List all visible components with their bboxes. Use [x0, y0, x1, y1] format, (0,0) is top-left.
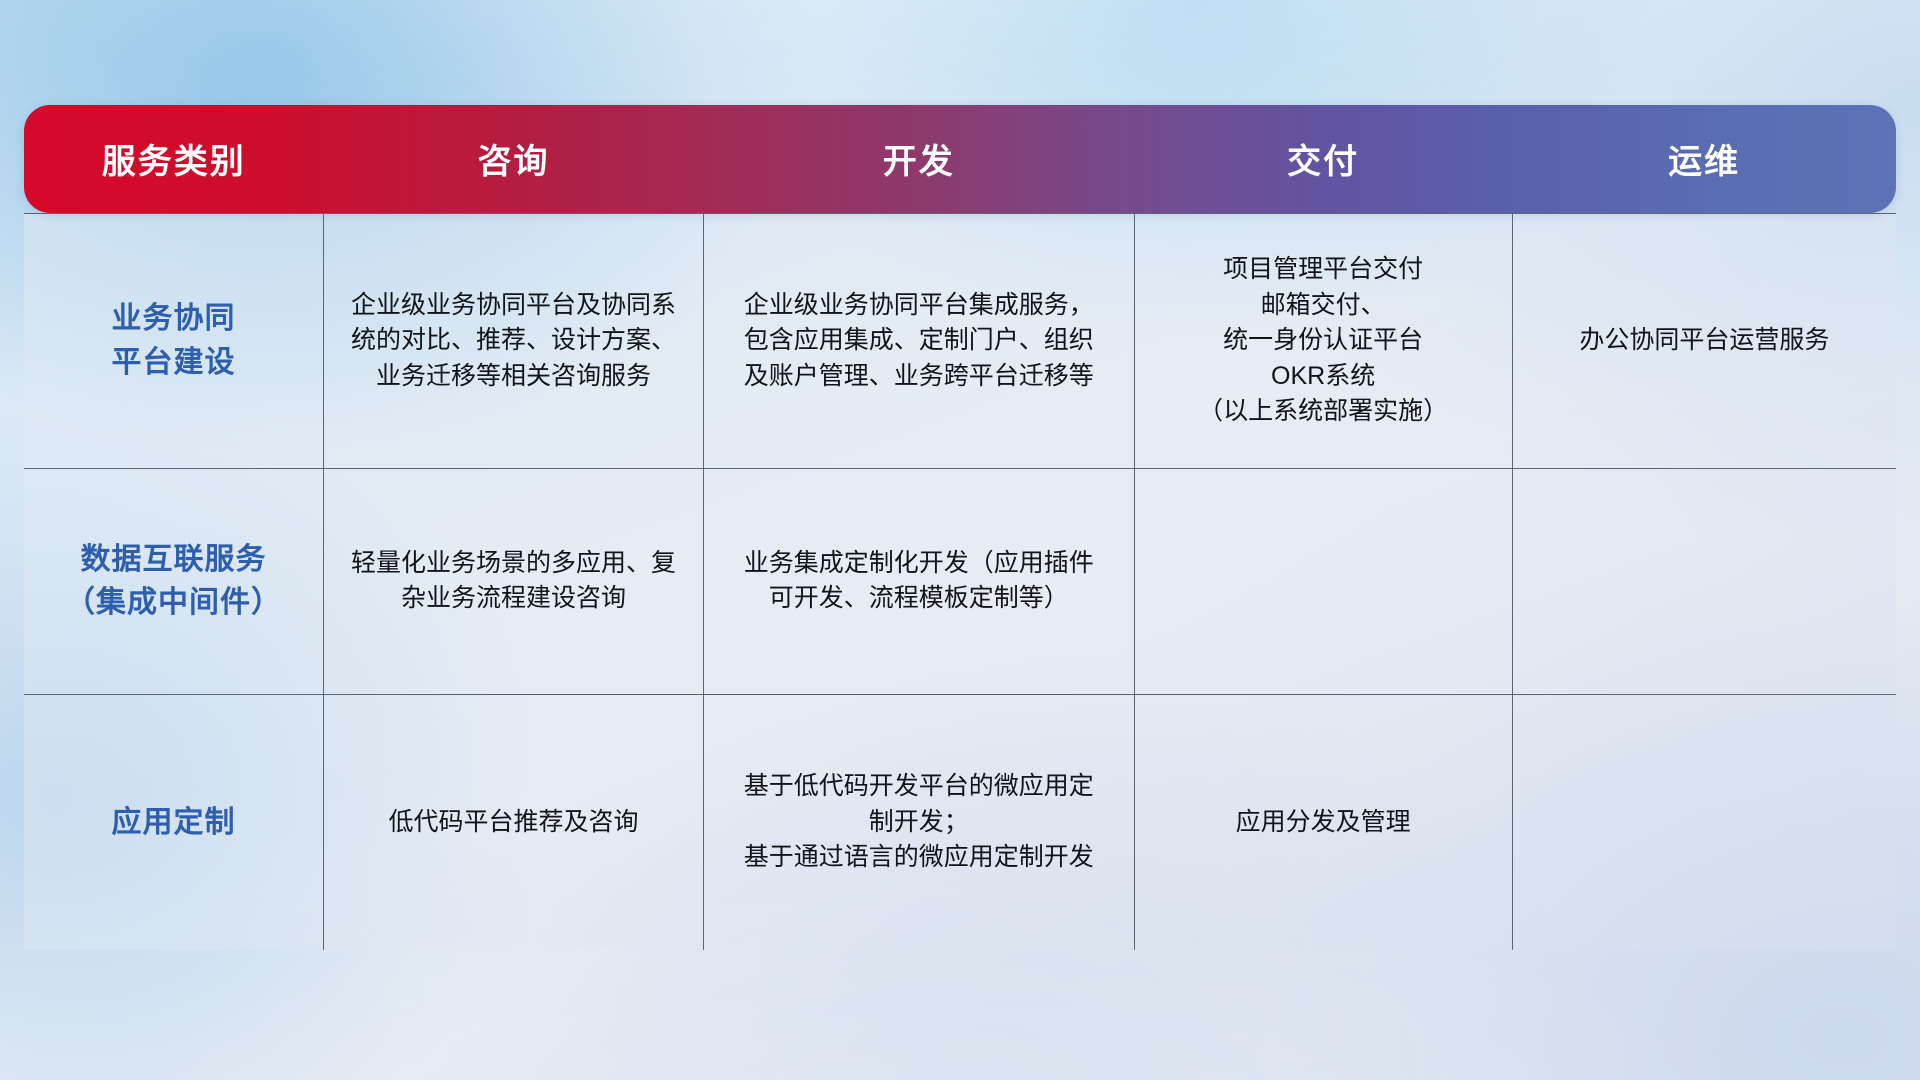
service-matrix-table: 服务类别 咨询 开发 交付 运维 业务协同 平台建设 企业级业务协同平台及协同系…	[24, 105, 1896, 950]
cell-category-2: 数据互联服务 （集成中间件）	[24, 469, 324, 695]
column-header-consulting: 咨询	[324, 105, 704, 213]
column-header-development: 开发	[704, 105, 1135, 213]
table-row: 数据互联服务 （集成中间件） 轻量化业务场景的多应用、复 杂业务流程建设咨询 业…	[24, 469, 1896, 695]
table-header-row: 服务类别 咨询 开发 交付 运维	[24, 105, 1896, 213]
table-body: 业务协同 平台建设 企业级业务协同平台及协同系 统的对比、推荐、设计方案、 业务…	[24, 213, 1896, 950]
cell-delivery-3: 应用分发及管理	[1134, 694, 1512, 950]
cell-category-1: 业务协同 平台建设	[24, 213, 324, 469]
table-row: 应用定制 低代码平台推荐及咨询 基于低代码开发平台的微应用定 制开发； 基于通过…	[24, 694, 1896, 950]
cell-consulting-1: 企业级业务协同平台及协同系 统的对比、推荐、设计方案、 业务迁移等相关咨询服务	[324, 213, 704, 469]
table-row: 业务协同 平台建设 企业级业务协同平台及协同系 统的对比、推荐、设计方案、 业务…	[24, 213, 1896, 469]
cell-operations-1: 办公协同平台运营服务	[1512, 213, 1896, 469]
service-matrix-table-wrapper: 服务类别 咨询 开发 交付 运维 业务协同 平台建设 企业级业务协同平台及协同系…	[24, 105, 1896, 950]
cell-development-3: 基于低代码开发平台的微应用定 制开发； 基于通过语言的微应用定制开发	[704, 694, 1135, 950]
cell-consulting-2: 轻量化业务场景的多应用、复 杂业务流程建设咨询	[324, 469, 704, 695]
table-header: 服务类别 咨询 开发 交付 运维	[24, 105, 1896, 213]
cell-delivery-1: 项目管理平台交付 邮箱交付、 统一身份认证平台 OKR系统 （以上系统部署实施）	[1134, 213, 1512, 469]
cell-consulting-3: 低代码平台推荐及咨询	[324, 694, 704, 950]
column-header-delivery: 交付	[1134, 105, 1512, 213]
cell-category-3: 应用定制	[24, 694, 324, 950]
column-header-category: 服务类别	[24, 105, 324, 213]
cell-delivery-2	[1134, 469, 1512, 695]
cell-operations-2	[1512, 469, 1896, 695]
column-header-operations: 运维	[1512, 105, 1896, 213]
cell-operations-3	[1512, 694, 1896, 950]
cell-development-1: 企业级业务协同平台集成服务， 包含应用集成、定制门户、组织 及账户管理、业务跨平…	[704, 213, 1135, 469]
cell-development-2: 业务集成定制化开发（应用插件 可开发、流程模板定制等）	[704, 469, 1135, 695]
